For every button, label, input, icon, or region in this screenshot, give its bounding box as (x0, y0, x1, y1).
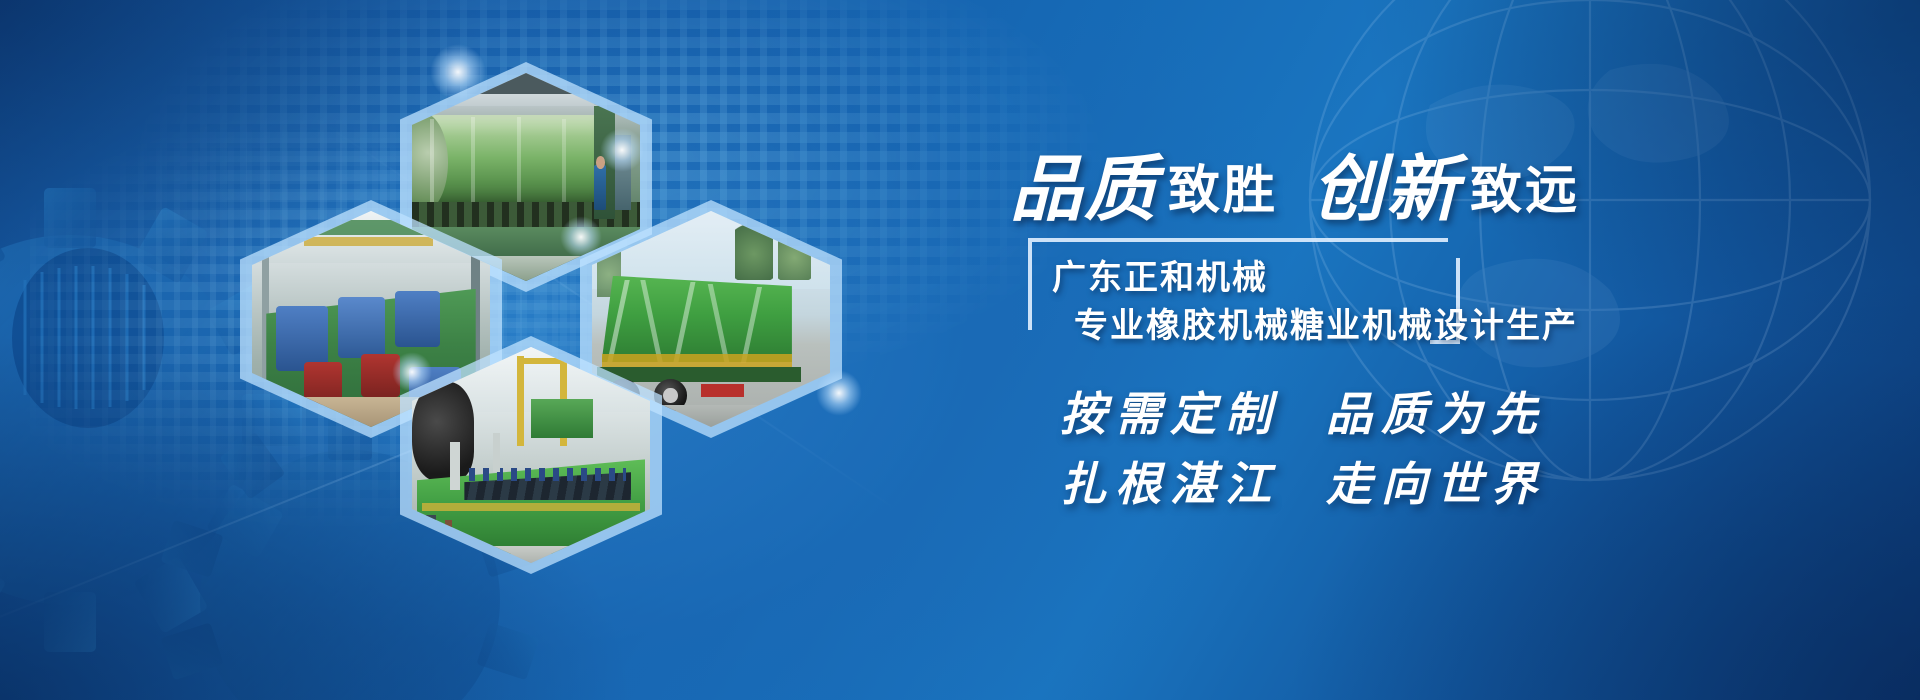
tagline-2-left: 扎根湛江 (1060, 457, 1280, 511)
headline: 品质致胜创新致远 (1010, 130, 1580, 235)
headline-part1-brush: 品质 (1010, 146, 1158, 231)
tagline-row-2: 扎根湛江走向世界 (1060, 448, 1546, 514)
tagline-row-1: 按需定制品质为先 (1060, 378, 1546, 444)
tagline-1-left: 按需定制 (1060, 387, 1280, 441)
headline-part2-plain: 致远 (1460, 161, 1580, 221)
tagline-2-right: 走向世界 (1326, 457, 1546, 511)
subtitle-line-1: 广东正和机械 (1052, 250, 1268, 299)
promo-banner: 品质致胜创新致远 广东正和机械 专业橡胶机械糖业机械设计生产 按需定制品质为先 … (0, 0, 1920, 700)
headline-part1-plain: 致胜 (1158, 161, 1278, 221)
headline-part2-brush: 创新 (1312, 146, 1460, 231)
tagline-1-right: 品质为先 (1326, 387, 1546, 441)
hexagon-photo-cluster (0, 0, 880, 700)
banner-copy: 品质致胜创新致远 广东正和机械 专业橡胶机械糖业机械设计生产 按需定制品质为先 … (1010, 110, 1890, 630)
subtitle-line-2: 专业橡胶机械糖业机械设计生产 (1074, 298, 1578, 347)
